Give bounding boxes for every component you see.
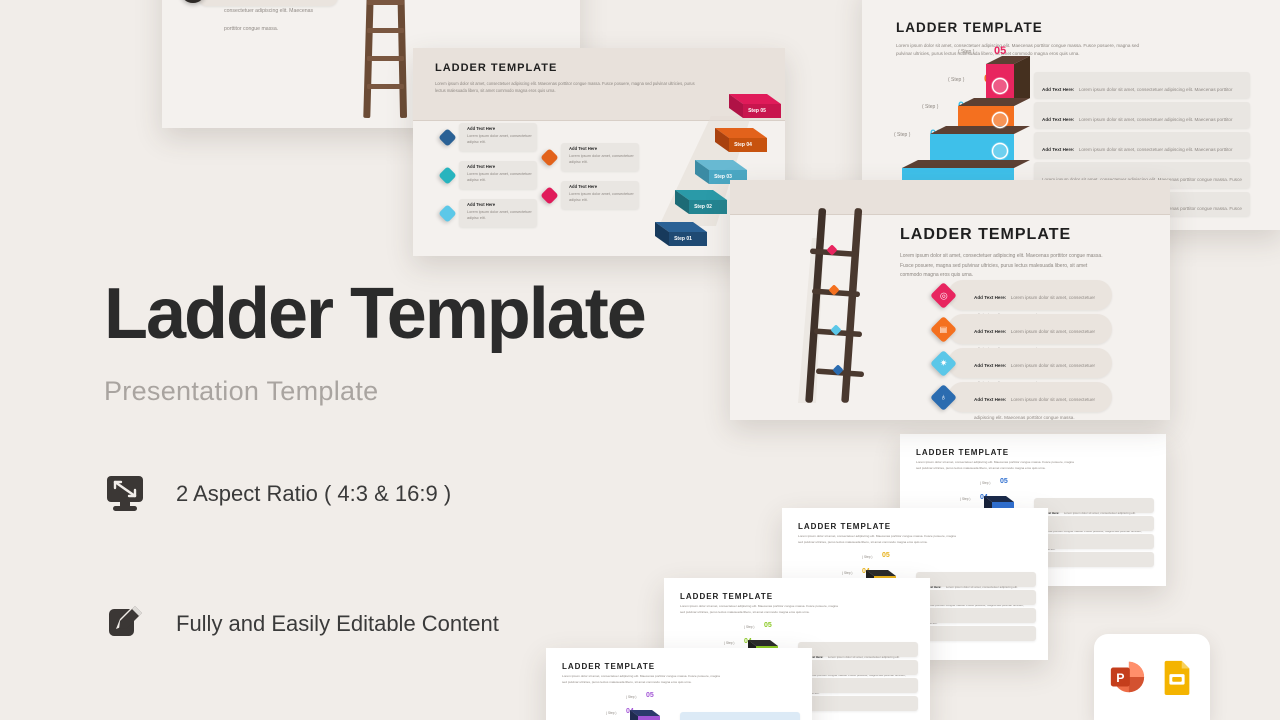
slide-title: LADDER TEMPLATE (896, 20, 1154, 35)
ladder-illustration (348, 0, 420, 118)
page-title: Ladder Template (104, 278, 724, 350)
slide-title: LADDER TEMPLATE (900, 226, 1106, 244)
feature-label: 2 Aspect Ratio ( 4:3 & 16:9 ) (176, 481, 451, 507)
lorem-text: Lorem ipsum dolor sit amet, consectetuer… (224, 0, 329, 32)
add-text-label: Add Text Here: (974, 363, 1006, 368)
pencil-edit-icon (104, 603, 146, 645)
svg-text:P: P (1116, 671, 1124, 685)
slide-theme-purple[interactable]: LADDER TEMPLATE Lorem ipsum dolor sit am… (546, 648, 812, 720)
add-text-label: Add Text Here: (974, 329, 1006, 334)
step-number: 05 (882, 552, 890, 559)
item-body: Lorem ipsum dolor amet, consectetuer adi… (467, 209, 533, 221)
list-item[interactable] (1034, 534, 1154, 549)
google-slides-icon (1158, 658, 1196, 696)
slide-title: LADDER TEMPLATE (680, 592, 773, 601)
stairs-illustration (602, 700, 672, 720)
step-number: 05 (1000, 478, 1008, 485)
feature-item-aspect-ratio: 2 Aspect Ratio ( 4:3 & 16:9 ) (104, 462, 499, 526)
step-prefix: ( Step ) (958, 49, 974, 55)
feature-list: 2 Aspect Ratio ( 4:3 & 16:9 ) Fully and … (104, 462, 499, 720)
ladder-illustration (790, 208, 878, 403)
target-icon: ◎ (940, 291, 948, 300)
slide-title: LADDER TEMPLATE (916, 448, 1009, 457)
item-title: Add Text Here (467, 164, 533, 169)
svg-text:Step 02: Step 02 (694, 204, 712, 210)
list-item[interactable] (1034, 516, 1154, 531)
list-item[interactable] (916, 626, 1036, 641)
item-body: Lorem ipsum dolor amet, consectetuer adi… (569, 153, 635, 165)
slide-ladder-main[interactable]: LADDER TEMPLATE Lorem ipsum dolor sit am… (730, 180, 1170, 420)
slide-paragraph: Lorem ipsum dolor sit amet, consectetuer… (900, 252, 1106, 281)
step-number: 05 (764, 622, 772, 629)
step-prefix: ( Step ) (744, 625, 754, 629)
svg-text:Step 04: Step 04 (734, 142, 752, 148)
step-badge (438, 166, 456, 184)
add-text-label: Add Text Here: (974, 397, 1006, 402)
slide-paragraph: Lorem ipsum dolor sit amet, consectetuer… (680, 604, 840, 615)
stairs-illustration (892, 56, 1032, 196)
feature-label: Fully and Easily Editable Content (176, 611, 499, 637)
item-title: Add Text Here (569, 146, 635, 151)
step-prefix: ( Step ) (980, 481, 990, 485)
add-text-label: Add Text Here: (1042, 87, 1074, 92)
item-body: Lorem ipsum dolor amet, consectetuer adi… (569, 191, 635, 203)
add-text-label: Add Text Here: (1042, 147, 1074, 152)
bulb-icon: ♁ (940, 393, 947, 402)
slide-paragraph: Lorem ipsum dolor sit amet, consectetuer… (798, 534, 958, 545)
item-title: Add Text Here (467, 126, 533, 131)
list-item[interactable] (798, 678, 918, 693)
slide-title: LADDER TEMPLATE (562, 662, 655, 671)
step-badge (438, 204, 456, 222)
item-body: Lorem ipsum dolor amet, consectetuer adi… (467, 133, 533, 145)
list-item[interactable] (798, 660, 918, 675)
add-text-label: Add Text Here: (1042, 117, 1074, 122)
book-icon: ▤ (940, 326, 948, 334)
poster-stage: 03 Add Text Here: Lorem ipsum dolor sit … (0, 0, 1280, 720)
svg-text:Step 01: Step 01 (674, 236, 692, 242)
step-badge (438, 128, 456, 146)
svg-text:Step 05: Step 05 (748, 108, 766, 114)
slide-title: LADDER TEMPLATE (798, 522, 891, 531)
slide-paragraph: Lorem ipsum dolor sit amet, consectetuer… (916, 460, 1076, 471)
feature-item-editable: Fully and Easily Editable Content (104, 592, 499, 656)
format-badges: P (1094, 634, 1210, 720)
page-subtitle: Presentation Template (104, 376, 724, 407)
step-prefix: ( Step ) (626, 695, 636, 699)
powerpoint-icon: P (1108, 658, 1146, 696)
add-text-label: Add Text Here: (974, 295, 1006, 300)
item-title: Add Text Here (467, 202, 533, 207)
slide-title: LADDER TEMPLATE (435, 62, 703, 74)
monitor-aspect-ratio-icon (104, 473, 146, 515)
list-item[interactable] (916, 590, 1036, 605)
item-body: Lorem ipsum dolor amet, consectetuer adi… (467, 171, 533, 183)
list-item[interactable] (916, 608, 1036, 623)
item-title: Add Text Here (569, 184, 635, 189)
step-badge (540, 148, 558, 166)
hero-block: Ladder Template Presentation Template (104, 278, 724, 407)
list-item[interactable] (798, 696, 918, 711)
step-prefix: ( Step ) (862, 555, 872, 559)
step-badge (540, 186, 558, 204)
slide-paragraph: Lorem ipsum dolor sit amet, consectetuer… (562, 674, 722, 685)
list-item[interactable] (1034, 552, 1154, 567)
step-number: 05 (646, 692, 654, 699)
gear-icon: ✷ (940, 359, 948, 368)
